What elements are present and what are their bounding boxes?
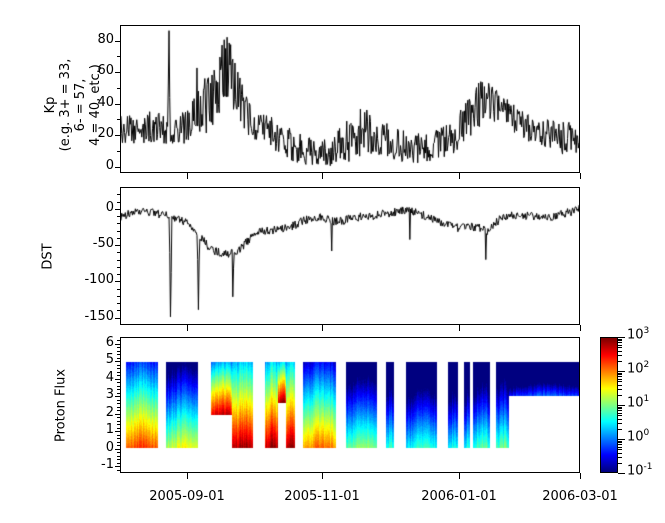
colorbar-tick-1 (618, 371, 625, 372)
colorbar-tick-minor (618, 373, 622, 374)
colorbar-tick-minor (618, 381, 622, 382)
colorbar-tick-minor (618, 395, 622, 396)
colorbar-tick-minor (618, 423, 622, 424)
colorbar-ticklabel-exponent-1: 2 (644, 360, 650, 370)
pf-xtick-3 (580, 473, 581, 479)
dst-xtick-2 (459, 325, 460, 331)
pf-xtick-1 (322, 473, 323, 479)
colorbar-tick-minor (618, 347, 622, 348)
colorbar-tick-minor (618, 345, 622, 346)
colorbar-tick-minor (618, 407, 622, 408)
colorbar-tick-minor (618, 389, 622, 390)
kp-axis-label-line-3: 4 = 40, etc.) (88, 25, 103, 185)
colorbar-ticklabel-mantissa-1: 10 (627, 361, 644, 376)
xticklabel-0: 2005-09-01 (139, 489, 235, 504)
colorbar-ticklabel-2: 101 (627, 394, 649, 410)
colorbar-tick-minor (618, 441, 622, 442)
pf-yticklabel-2: 1 (74, 422, 114, 437)
colorbar-ticklabel-mantissa-0: 10 (627, 327, 644, 342)
dst-panel (120, 187, 580, 325)
colorbar-tick-minor (618, 385, 622, 386)
colorbar-ticklabel-mantissa-2: 10 (627, 395, 644, 410)
pf-yticklabel-6: 5 (74, 352, 114, 367)
dst-xtick-3 (580, 325, 581, 331)
xticklabel-1: 2005-11-01 (274, 489, 370, 504)
colorbar-tick-4 (618, 473, 625, 474)
colorbar-ticklabel-3: 100 (627, 428, 649, 444)
kp-axis-label-line-1: (e.g. 3+ = 33, (58, 25, 73, 185)
colorbar-ticklabel-mantissa-3: 10 (627, 429, 644, 444)
dst-axis-label: DST (41, 227, 56, 287)
figure-root: Kp(e.g. 3+ = 33,6- = 57,4 = 40, etc.) DS… (0, 0, 665, 523)
proton-flux-heatmap-canvas (121, 338, 579, 472)
colorbar-tick-minor (618, 376, 622, 377)
kp-xtick-3 (580, 173, 581, 179)
dst-plot-canvas (121, 188, 579, 324)
colorbar-tick-2 (618, 405, 625, 406)
colorbar-tick-0 (618, 337, 625, 338)
colorbar-tick-minor (618, 449, 622, 450)
pf-yticklabel-5: 4 (74, 370, 114, 385)
kp-xtick-1 (322, 173, 323, 179)
proton-flux-axis-label: Proton Flux (54, 356, 69, 456)
colorbar-tick-minor (618, 413, 622, 414)
kp-axis-label: Kp(e.g. 3+ = 33,6- = 57,4 = 40, etc.) (43, 25, 103, 185)
dst-yticklabel-3: -150 (74, 309, 114, 324)
colorbar-tick-minor (618, 463, 622, 464)
kp-xtick-2 (459, 173, 460, 179)
colorbar-gradient (601, 338, 617, 472)
pf-yticklabel-1: 0 (74, 440, 114, 455)
pf-yticklabel-3: 2 (74, 405, 114, 420)
kp-xtick-0 (187, 173, 188, 179)
colorbar-ticklabel-exponent-2: 1 (644, 394, 650, 404)
colorbar-ticklabel-exponent-3: 0 (644, 428, 650, 438)
colorbar-tick-minor (618, 379, 622, 380)
colorbar-tick-minor (618, 415, 622, 416)
colorbar-tick-minor (618, 351, 622, 352)
colorbar-tick-minor (618, 419, 622, 420)
dst-yticklabel-0: 0 (74, 200, 114, 215)
colorbar-ticklabel-exponent-4: -1 (644, 462, 653, 472)
kp-plot-canvas (121, 26, 579, 172)
colorbar-ticklabel-mantissa-4: 10 (627, 463, 644, 478)
colorbar-tick-minor (618, 374, 622, 375)
colorbar-tick-minor (618, 453, 622, 454)
colorbar (600, 337, 618, 473)
colorbar-tick-minor (618, 340, 622, 341)
colorbar-tick-minor (618, 361, 622, 362)
colorbar-ticklabel-4: 10-1 (627, 462, 653, 478)
colorbar-ticklabel-1: 102 (627, 360, 649, 376)
kp-axis-label-line-2: 6- = 57, (73, 25, 88, 185)
colorbar-tick-minor (618, 339, 622, 340)
colorbar-tick-minor (618, 429, 622, 430)
kp-axis-label-line-0: Kp (43, 25, 58, 185)
pf-yticklabel-0: -1 (74, 457, 114, 472)
proton-flux-panel (120, 337, 580, 473)
colorbar-tick-minor (618, 408, 622, 409)
colorbar-ticklabel-0: 103 (627, 326, 649, 342)
colorbar-tick-minor (618, 410, 622, 411)
colorbar-tick-minor (618, 457, 622, 458)
colorbar-tick-3 (618, 439, 625, 440)
colorbar-tick-minor (618, 355, 622, 356)
pf-yticklabel-7: 6 (74, 335, 114, 350)
pf-xtick-0 (187, 473, 188, 479)
colorbar-tick-minor (618, 442, 622, 443)
colorbar-tick-minor (618, 447, 622, 448)
xticklabel-3: 2006-03-01 (532, 489, 628, 504)
dst-xtick-1 (322, 325, 323, 331)
dst-yticklabel-1: -50 (74, 236, 114, 251)
dst-yticklabel-2: -100 (74, 272, 114, 287)
pf-yticklabel-4: 3 (74, 387, 114, 402)
colorbar-tick-minor (618, 444, 622, 445)
kp-panel (120, 25, 580, 173)
colorbar-ticklabel-exponent-0: 3 (644, 326, 650, 336)
dst-xtick-0 (187, 325, 188, 331)
colorbar-tick-minor (618, 342, 622, 343)
pf-xtick-2 (459, 473, 460, 479)
xticklabel-2: 2006-01-01 (411, 489, 507, 504)
